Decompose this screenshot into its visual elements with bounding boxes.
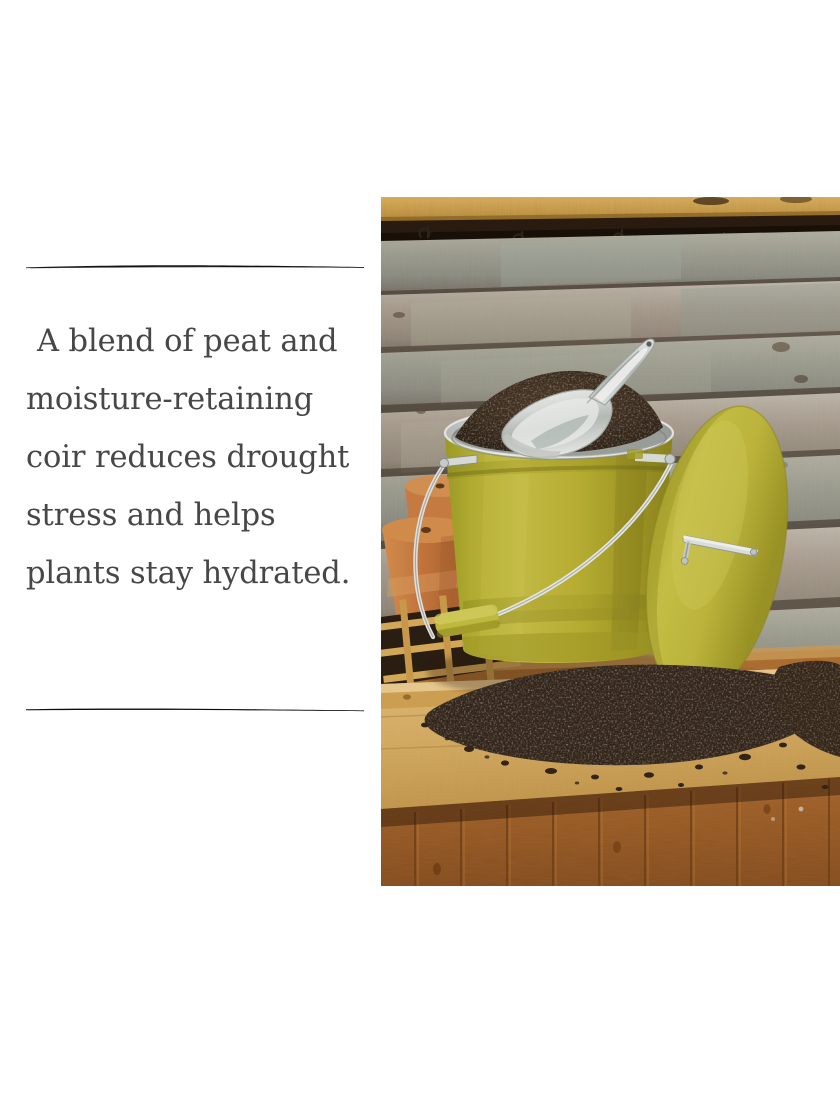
- divider-rule-bottom: [26, 707, 364, 713]
- text-panel: A blend of peat and moisture-retaining c…: [0, 255, 372, 720]
- slide-canvas: A blend of peat and moisture-retaining c…: [0, 0, 840, 1120]
- divider-rule-top: [26, 264, 364, 270]
- body-paragraph: A blend of peat and moisture-retaining c…: [26, 313, 366, 603]
- garden-photo: [381, 197, 840, 886]
